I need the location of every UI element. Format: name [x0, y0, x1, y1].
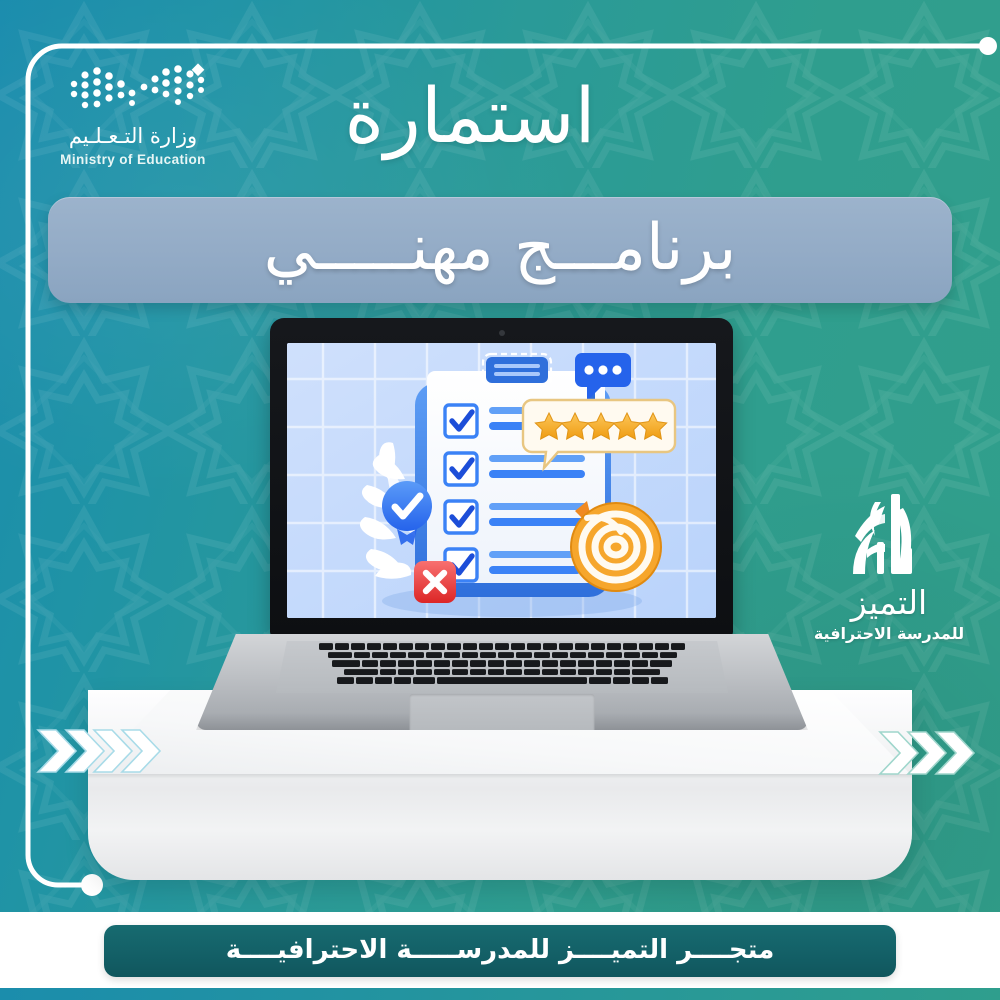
- red-x-badge-icon: [414, 561, 456, 603]
- keyboard-row: [276, 660, 728, 667]
- laptop-screen: [287, 343, 716, 618]
- footer-pill: متجــــر التميــــز للمدرســـــة الاحترا…: [104, 925, 896, 977]
- subtitle-text: برنامـــج مهنـــــي: [264, 216, 737, 280]
- frame-end-dot-icon: [81, 874, 103, 896]
- desk-surface: [88, 690, 912, 880]
- chevrons-right-icon: [878, 726, 978, 784]
- star-icon: [535, 413, 666, 439]
- brand-title: التميز: [804, 586, 974, 619]
- poster-canvas: وزارة التـعـلـيم Ministry of Education ا…: [0, 0, 1000, 1000]
- brand-logo: التميز للمدرسة الاحترافية: [804, 492, 974, 657]
- tower-mark-icon: [841, 492, 937, 578]
- footer-teal-edge: [0, 988, 1000, 1000]
- laurel-leaves-icon: [360, 442, 417, 578]
- keyboard-icon: [276, 641, 728, 693]
- speech-bubble-dots-icon: [575, 353, 631, 412]
- subtitle-bar: برنامـــج مهنـــــي: [48, 197, 952, 303]
- checkbox-checked-icon: [445, 501, 477, 533]
- chevrons-right-icon: [36, 724, 164, 782]
- clipboard-icon: [415, 383, 611, 597]
- page-title: استمارة: [0, 78, 1000, 154]
- keyboard-row: [276, 669, 728, 676]
- footer-label: متجــــر التميــــز للمدرســـــة الاحترا…: [226, 937, 775, 963]
- keyboard-row: [276, 643, 728, 650]
- checkbox-checked-icon: [445, 453, 477, 485]
- checkbox-checked-icon: [445, 549, 477, 581]
- brand-subtitle: للمدرسة الاحترافية: [804, 626, 974, 642]
- desk-top-face: [88, 690, 912, 776]
- checkbox-checked-icon: [445, 405, 477, 437]
- verified-check-badge-icon: [382, 481, 432, 545]
- dartboard-target-icon: [571, 501, 661, 591]
- frame-end-dot-icon: [979, 37, 997, 55]
- checklist-survey-illustration: [287, 343, 716, 618]
- rating-bubble-icon: [523, 400, 675, 468]
- keyboard-row: [276, 677, 728, 684]
- desk-front-edge: [88, 774, 912, 779]
- checklist-rows: [445, 405, 587, 581]
- clipboard-clip-icon: [483, 354, 551, 386]
- keyboard-row: [276, 652, 728, 659]
- ministry-logo-english: Ministry of Education: [38, 152, 228, 167]
- laptop-lid: [270, 318, 733, 636]
- webcam-dot-icon: [499, 330, 505, 336]
